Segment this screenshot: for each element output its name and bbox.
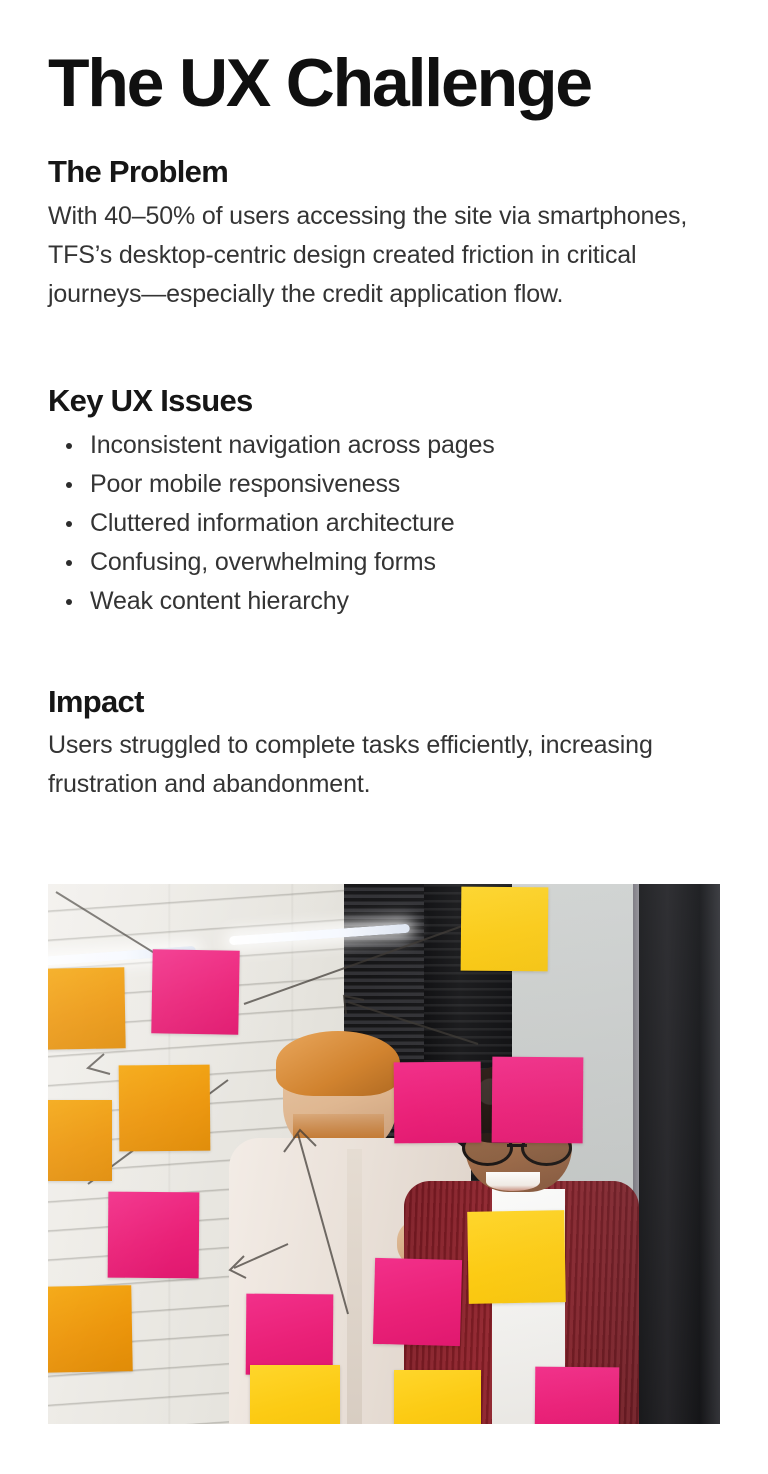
- page-title: The UX Challenge: [48, 0, 720, 117]
- bullet-dot-icon: [66, 599, 72, 605]
- sticky-note: [394, 1062, 482, 1144]
- sticky-note: [461, 886, 549, 970]
- list-item: Confusing, overwhelming forms: [48, 543, 720, 582]
- person-one-shirt-placket: [347, 1149, 362, 1424]
- slide-canvas: The UX Challenge The Problem With 40–50%…: [0, 0, 768, 1474]
- list-item-label: Poor mobile responsiveness: [90, 470, 400, 498]
- sticky-note: [373, 1258, 463, 1347]
- sticky-note: [491, 1056, 582, 1143]
- sticky-note: [535, 1367, 620, 1424]
- section-body-impact: Users struggled to complete tasks effici…: [48, 726, 708, 804]
- bullet-dot-icon: [66, 482, 72, 488]
- list-item-label: Confusing, overwhelming forms: [90, 548, 436, 576]
- sticky-note: [48, 1100, 112, 1181]
- list-item-label: Cluttered information architecture: [90, 509, 455, 537]
- person-one-hair: [276, 1031, 400, 1096]
- section-impact: Impact Users struggled to complete tasks…: [48, 683, 720, 805]
- sticky-note: [118, 1064, 209, 1151]
- content-column: The UX Challenge The Problem With 40–50%…: [48, 0, 720, 804]
- sticky-note: [467, 1210, 566, 1303]
- bullet-dot-icon: [66, 443, 72, 449]
- workshop-photo: [48, 884, 720, 1424]
- section-body-problem: With 40–50% of users accessing the site …: [48, 197, 708, 314]
- key-ux-issues-list: Inconsistent navigation across pages Poo…: [48, 426, 720, 621]
- dark-pillar: [639, 884, 720, 1424]
- list-item-label: Weak content hierarchy: [90, 587, 349, 615]
- list-item: Poor mobile responsiveness: [48, 465, 720, 504]
- section-heading-key-ux-issues: Key UX Issues: [48, 382, 720, 421]
- sticky-note: [394, 1370, 481, 1424]
- section-problem: The Problem With 40–50% of users accessi…: [48, 153, 720, 314]
- sticky-note: [246, 1294, 334, 1376]
- bullet-dot-icon: [66, 521, 72, 527]
- photo-scene: [48, 884, 720, 1424]
- sticky-note: [151, 949, 240, 1034]
- sticky-note: [250, 1365, 341, 1424]
- sticky-note: [108, 1191, 199, 1278]
- list-item: Weak content hierarchy: [48, 582, 720, 621]
- section-heading-problem: The Problem: [48, 153, 720, 192]
- sticky-note: [48, 967, 126, 1050]
- list-item-label: Inconsistent navigation across pages: [90, 431, 495, 459]
- list-item: Inconsistent navigation across pages: [48, 426, 720, 465]
- bullet-dot-icon: [66, 560, 72, 566]
- section-key-ux-issues: Key UX Issues Inconsistent navigation ac…: [48, 382, 720, 621]
- person-two-smile: [486, 1172, 540, 1190]
- section-heading-impact: Impact: [48, 683, 720, 722]
- list-item: Cluttered information architecture: [48, 504, 720, 543]
- sticky-note: [48, 1286, 133, 1374]
